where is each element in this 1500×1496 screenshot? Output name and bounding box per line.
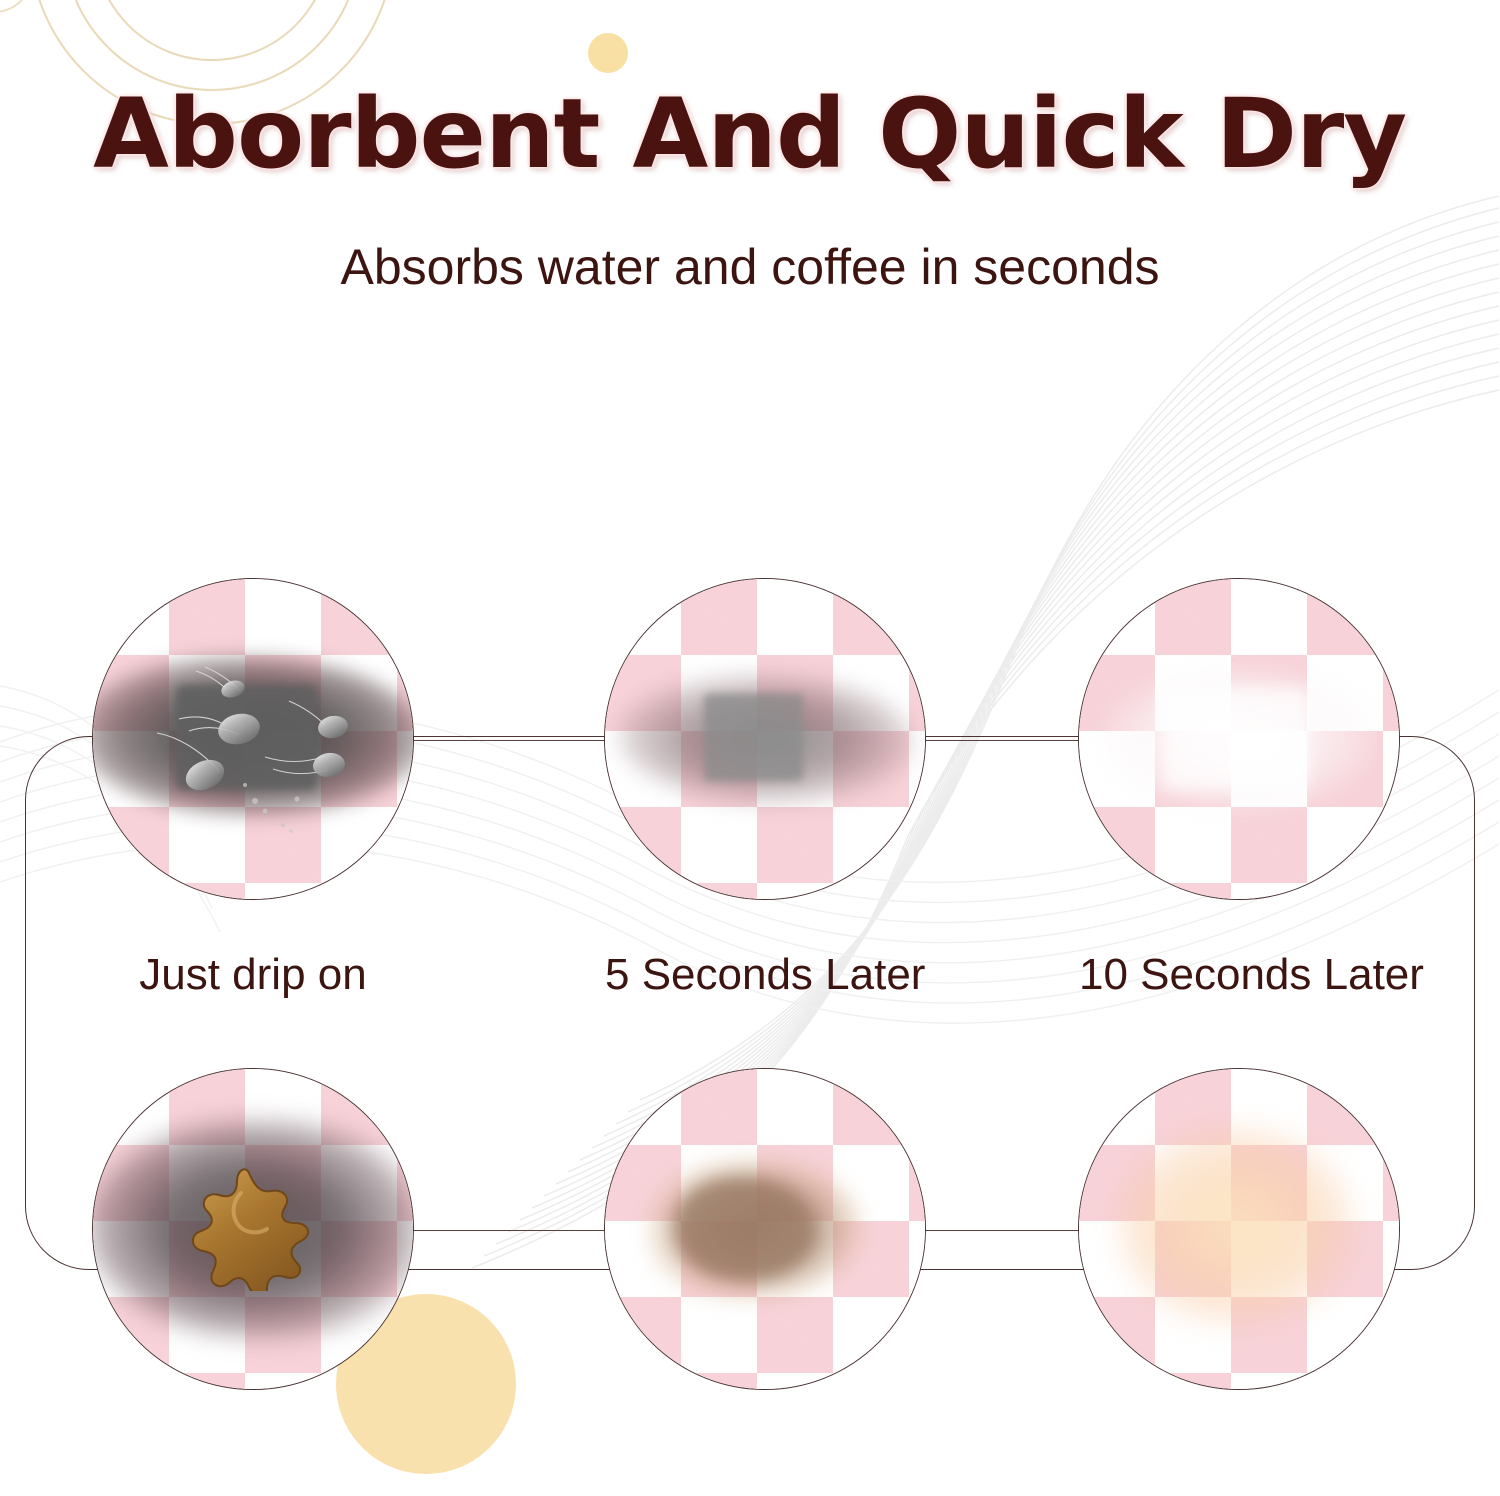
step-label-0: Just drip on [93,950,413,1000]
swatch-coffee-5s[interactable] [604,1068,926,1390]
gold-dot-decoration [588,33,628,73]
page-title: Aborbent And Quick Dry [94,78,1407,190]
water-residue-core [1162,688,1309,790]
swatch-water-5s[interactable] [604,578,926,900]
connector-line-row1-a [406,740,606,741]
connector-line-row2-a [406,1230,606,1231]
coffee-stain-core [675,1178,816,1280]
water-droplets-icon [93,579,414,900]
infographic-canvas: Aborbent And Quick Dry Absorbs water and… [0,0,1500,1496]
swatch-coffee-drip[interactable] [92,1068,414,1390]
concentric-arcs-small-icon [0,0,32,12]
swatch-coffee-10s[interactable] [1078,1068,1400,1390]
page-subtitle: Absorbs water and coffee in seconds [0,238,1500,296]
water-wet-core-faded [704,694,803,780]
coffee-splat-icon [187,1167,319,1291]
coffee-residue-faint [1117,1127,1354,1325]
swatch-water-10s[interactable] [1078,578,1400,900]
subtitle-container: Absorbs water and coffee in seconds [0,238,1500,296]
swatch-water-drip[interactable] [92,578,414,900]
step-label-1: 5 Seconds Later [605,950,925,1000]
title-container: Aborbent And Quick Dry [0,78,1500,190]
step-label-2: 10 Seconds Later [1079,950,1399,1000]
